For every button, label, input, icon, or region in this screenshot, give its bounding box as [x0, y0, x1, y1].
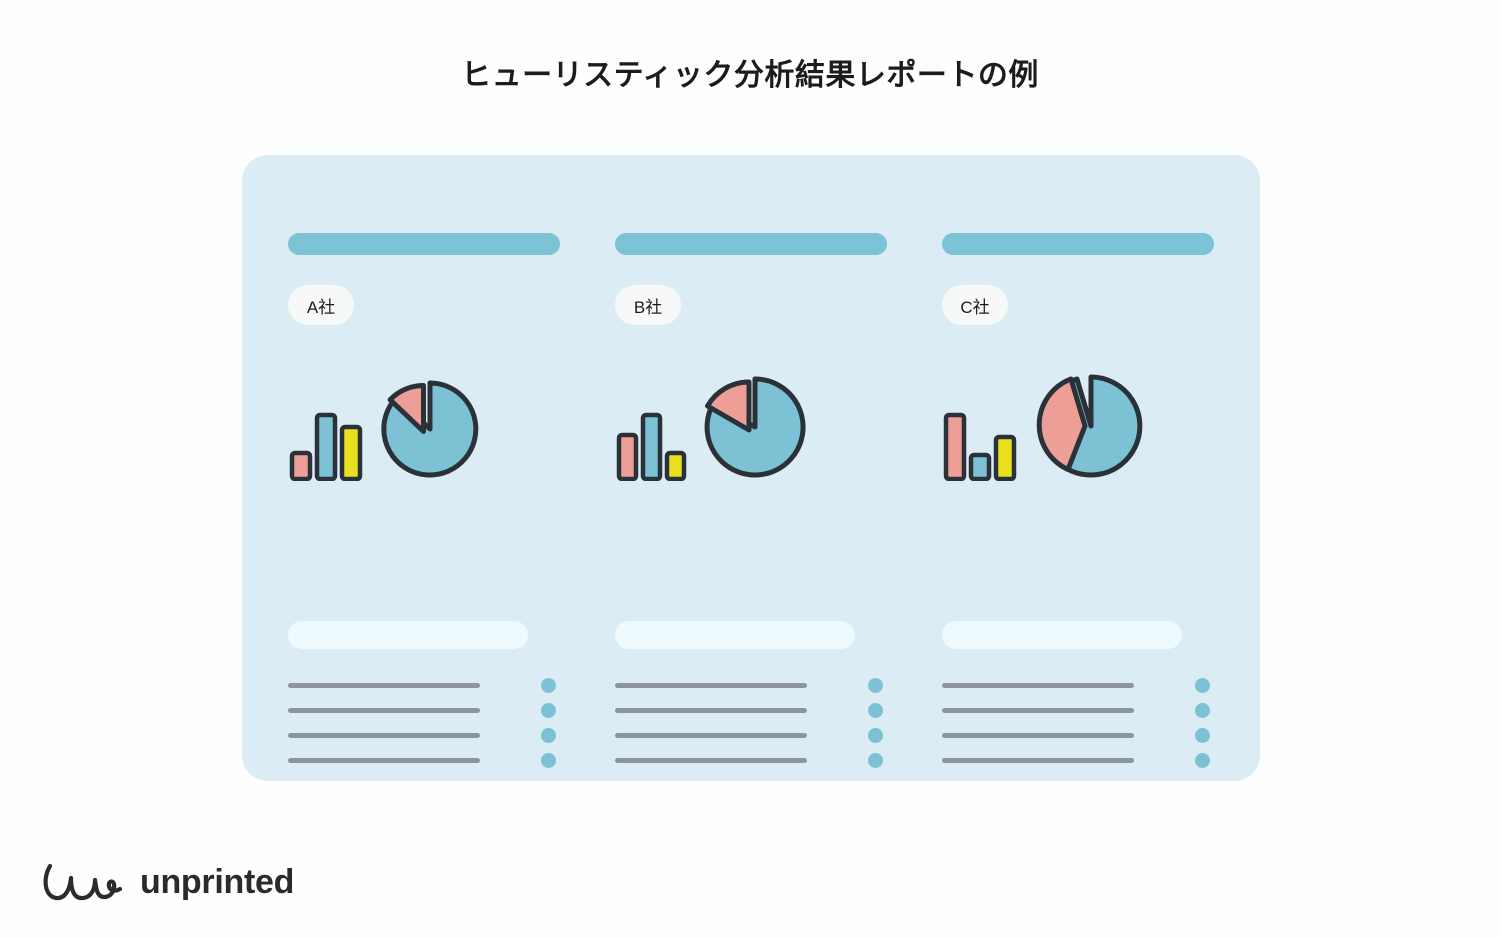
list-item[interactable] — [288, 698, 560, 723]
list-rows-a — [288, 673, 560, 773]
company-label-b[interactable]: B社 — [615, 285, 681, 325]
report-column-company-b: B社 — [615, 233, 887, 781]
charts-row-c — [942, 361, 1214, 481]
status-dot — [868, 728, 883, 743]
list-line — [288, 758, 480, 763]
list-item[interactable] — [288, 723, 560, 748]
list-line — [288, 733, 480, 738]
charts-row-a — [288, 361, 560, 481]
brand-wordmark: unprinted — [140, 863, 294, 902]
list-line — [942, 683, 1134, 688]
placeholder-bar-c — [942, 621, 1182, 649]
list-rows-b — [615, 673, 887, 773]
list-line — [615, 708, 807, 713]
list-item[interactable] — [615, 698, 887, 723]
list-line — [942, 733, 1134, 738]
report-columns: A社 — [242, 155, 1260, 781]
list-rows-c — [942, 673, 1214, 773]
unprinted-monogram-icon — [40, 856, 126, 908]
list-item[interactable] — [942, 698, 1214, 723]
list-line — [288, 708, 480, 713]
list-line — [615, 733, 807, 738]
list-item[interactable] — [615, 673, 887, 698]
placeholder-bar-b — [615, 621, 855, 649]
status-dot — [541, 678, 556, 693]
list-item[interactable] — [288, 748, 560, 773]
report-column-company-a: A社 — [288, 233, 560, 781]
status-dot — [541, 753, 556, 768]
status-dot — [1195, 703, 1210, 718]
status-dot — [868, 678, 883, 693]
status-dot — [1195, 728, 1210, 743]
list-item[interactable] — [942, 748, 1214, 773]
list-item[interactable] — [288, 673, 560, 698]
page-title: ヒューリスティック分析結果レポートの例 — [0, 56, 1500, 95]
bar-chart-a — [288, 405, 364, 481]
pie-chart-b — [701, 373, 809, 481]
bar-chart-b — [615, 405, 687, 481]
bar-chart-c — [942, 405, 1018, 481]
list-item[interactable] — [942, 673, 1214, 698]
list-line — [942, 758, 1134, 763]
status-dot — [541, 728, 556, 743]
company-label-a[interactable]: A社 — [288, 285, 354, 325]
placeholder-bar-a — [288, 621, 528, 649]
pie-chart-c — [1036, 371, 1146, 481]
report-column-company-c: C社 — [942, 233, 1214, 781]
report-card: A社 — [242, 155, 1260, 781]
column-header-bar — [288, 233, 560, 255]
list-line — [288, 683, 480, 688]
company-label-c[interactable]: C社 — [942, 285, 1008, 325]
charts-row-b — [615, 361, 887, 481]
status-dot — [1195, 678, 1210, 693]
column-header-bar — [615, 233, 887, 255]
list-item[interactable] — [615, 748, 887, 773]
list-item[interactable] — [615, 723, 887, 748]
pie-chart-a — [378, 377, 482, 481]
status-dot — [541, 703, 556, 718]
list-line — [615, 758, 807, 763]
status-dot — [868, 703, 883, 718]
list-line — [615, 683, 807, 688]
list-line — [942, 708, 1134, 713]
list-item[interactable] — [942, 723, 1214, 748]
status-dot — [868, 753, 883, 768]
footer-logo: unprinted — [40, 856, 294, 908]
status-dot — [1195, 753, 1210, 768]
column-header-bar — [942, 233, 1214, 255]
